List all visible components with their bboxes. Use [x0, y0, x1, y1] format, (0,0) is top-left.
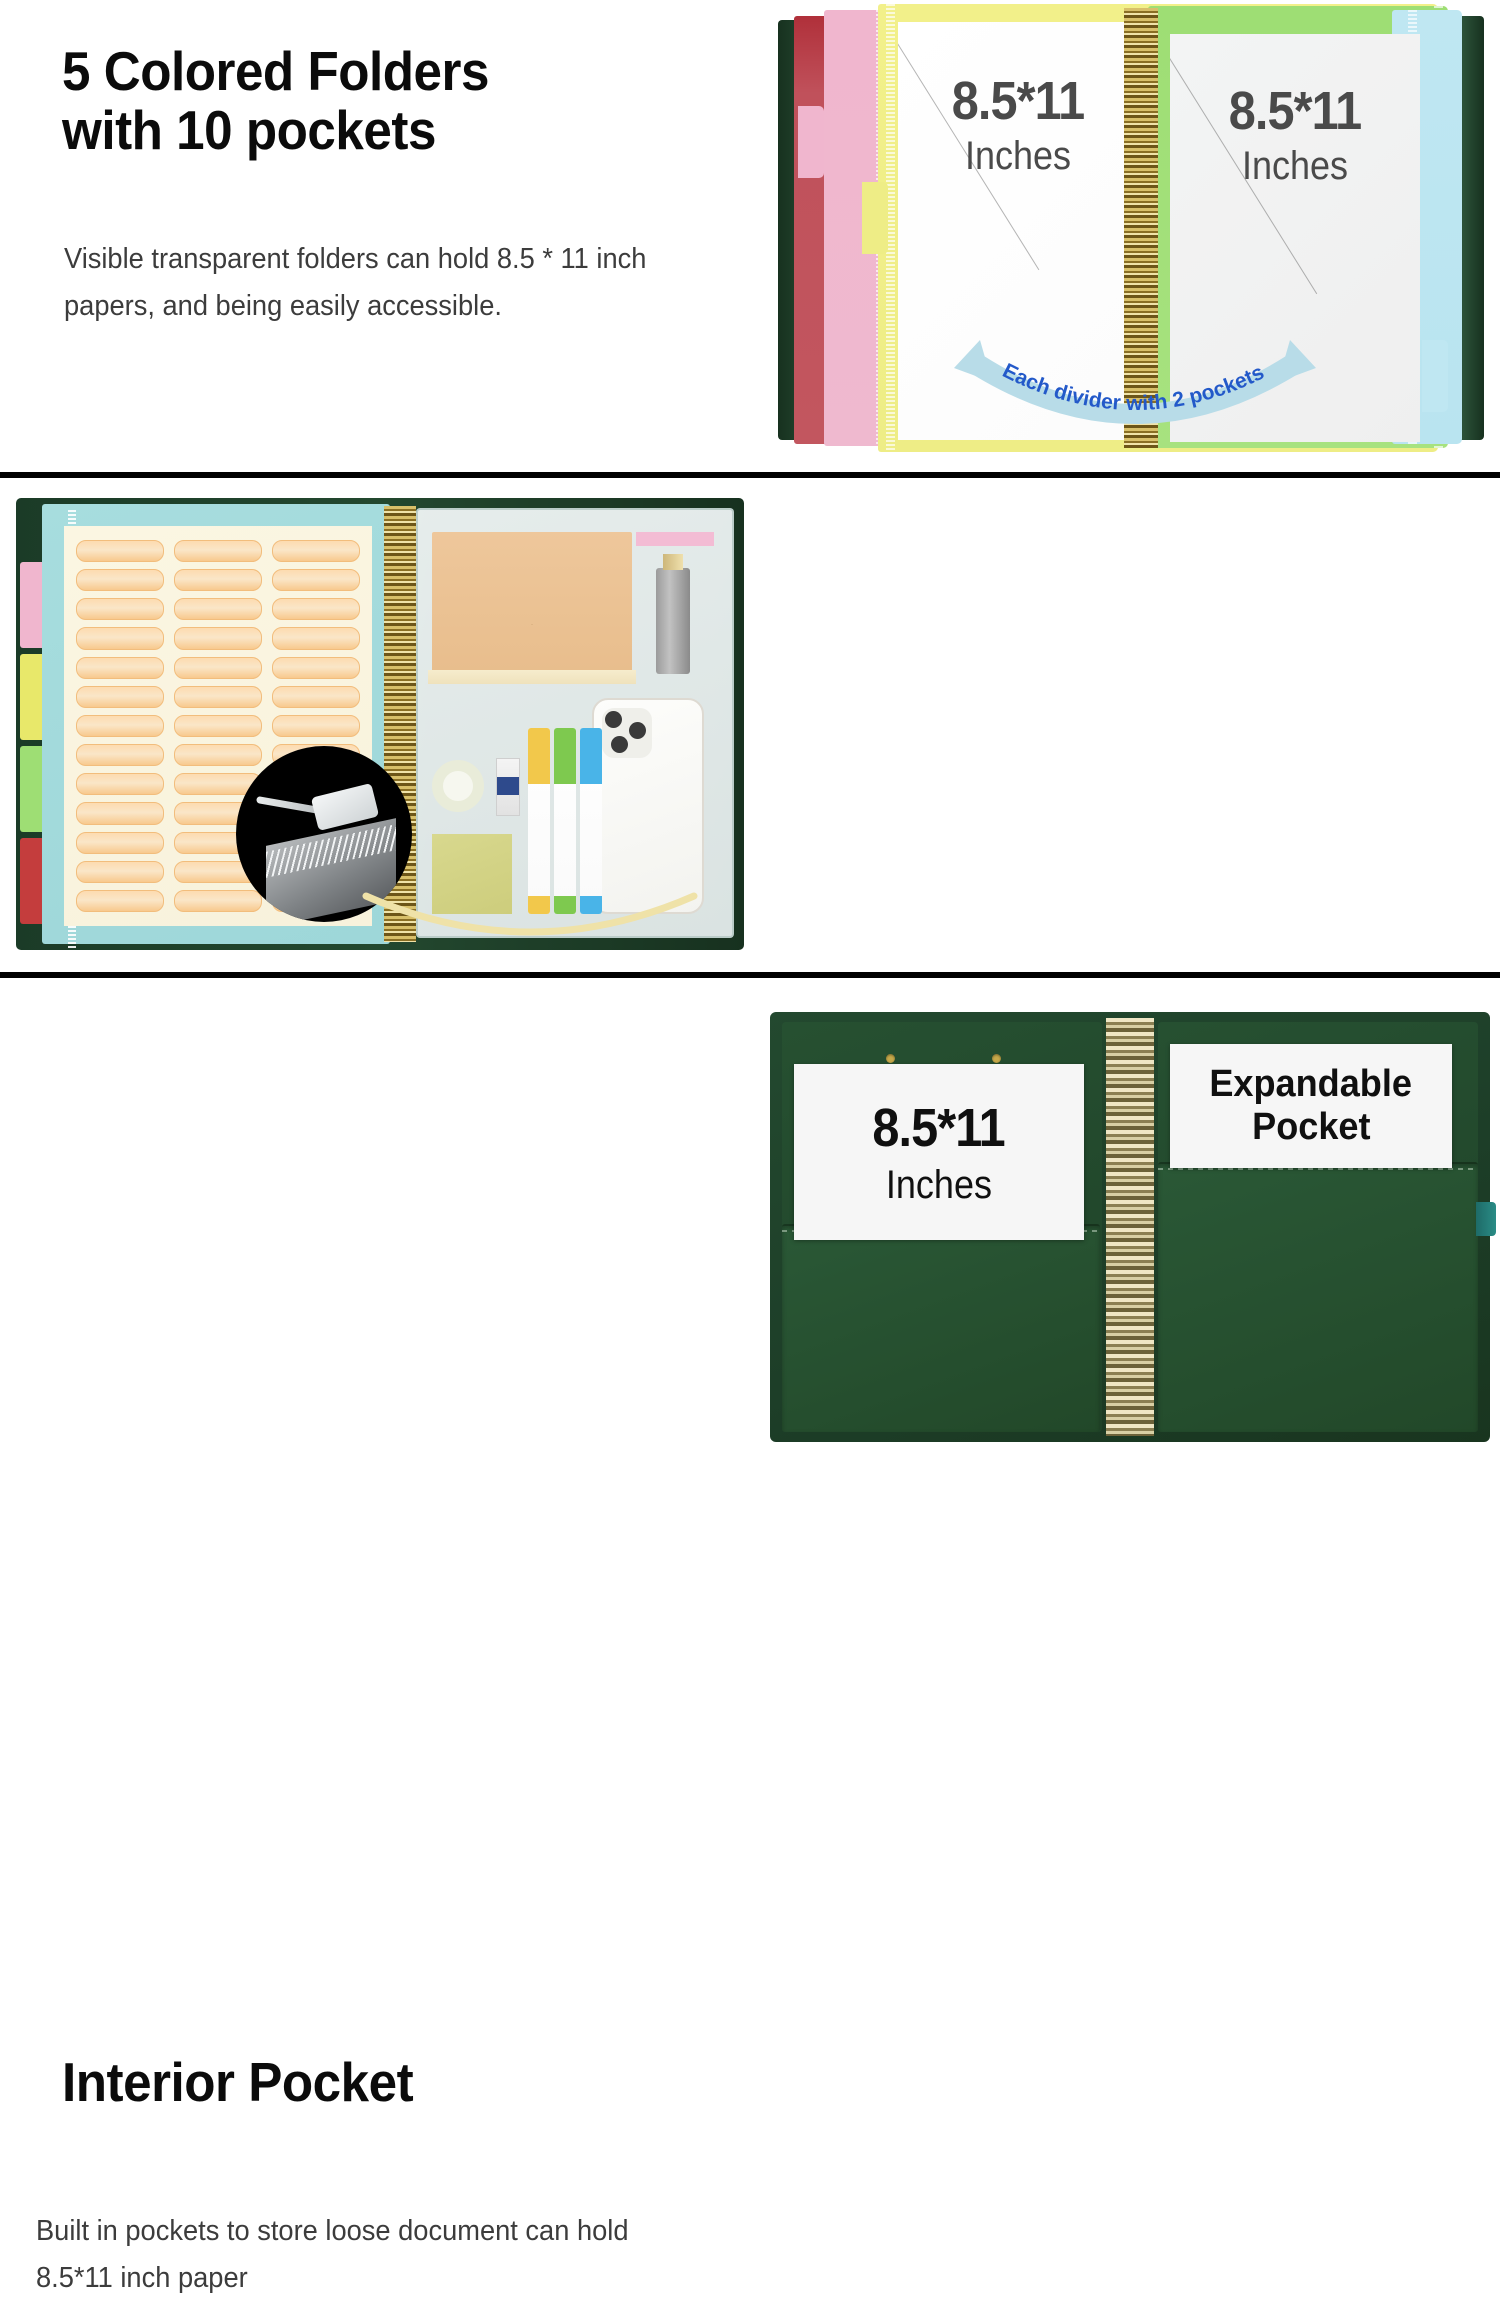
- divider-tab-pink: [798, 106, 824, 178]
- paper-size-label-left: 8.5*11 Inches: [921, 74, 1115, 176]
- sticker-label: [272, 715, 360, 737]
- sticker-label: [76, 773, 164, 795]
- divider-tab-blue: [1422, 340, 1448, 412]
- sticker-label: [76, 598, 164, 620]
- sticker-label: [272, 540, 360, 562]
- pink-paper-slip-item: [636, 532, 714, 546]
- eraser-item: [496, 758, 520, 816]
- binder-hole: [886, 1054, 895, 1063]
- panel-3-body-text: Built in pockets to store loose document…: [36, 2208, 713, 2302]
- pen-loop-tab: [1476, 1202, 1496, 1236]
- paper-size-label-right: 8.5*11 Inches: [1192, 84, 1399, 186]
- interior-pocket-left[interactable]: [782, 1224, 1100, 1432]
- sticker-label: [76, 832, 164, 854]
- sticker-label: [272, 627, 360, 649]
- folio-interior-photo: 8.5*11 Inches Expandable Pocket: [770, 1012, 1490, 1442]
- expandable-card-line-2: Pocket: [1252, 1106, 1370, 1149]
- paper-size-unit-right: Inches: [1192, 146, 1399, 186]
- green-marker-item: [554, 728, 576, 914]
- washi-tape-roll-item: [432, 760, 484, 812]
- camera-lens-icon: [611, 736, 628, 753]
- sticker-label: [272, 686, 360, 708]
- sticker-label: [76, 540, 164, 562]
- spiral-coil-icon: [1106, 1018, 1154, 1436]
- divider-pockets-annotation: Each divider with 2 pockets: [950, 334, 1320, 444]
- pvc-zipper-pouch[interactable]: [416, 508, 734, 938]
- sticker-label: [174, 686, 262, 708]
- sticker-label: [272, 569, 360, 591]
- sticker-label: [76, 715, 164, 737]
- sticker-label: [174, 569, 262, 591]
- size-card: 8.5*11 Inches: [794, 1064, 1084, 1240]
- open-binder-photo: 8.5*11 Inches 8.5*11 Inches Each divider…: [770, 4, 1490, 452]
- sticker-label: [174, 540, 262, 562]
- sticker-label: [76, 802, 164, 824]
- yellow-marker-item: [528, 728, 550, 914]
- paper-size-value-right: 8.5*11: [1192, 84, 1399, 138]
- sticker-label: [174, 627, 262, 649]
- elastic-cord: [366, 896, 694, 932]
- panel-1-heading-line-1: 5 Colored Folders: [62, 40, 489, 102]
- spiral-binding-bottom: [1106, 1018, 1154, 1436]
- elastic-band-closure: [360, 892, 700, 952]
- pocket-stitching: [1158, 1168, 1478, 1170]
- size-card-line-2: Inches: [886, 1163, 992, 1208]
- divider-tab-yellow: [862, 182, 888, 254]
- marker-cap: [554, 728, 576, 784]
- sticker-label: [76, 744, 164, 766]
- panel-1-body-text: Visible transparent folders can hold 8.5…: [64, 236, 694, 330]
- sticker-label: [174, 715, 262, 737]
- panel-3-heading: Interior Pocket: [62, 2053, 694, 2112]
- panel-colored-folders: 5 Colored Folders with 10 pockets Visibl…: [0, 0, 1500, 472]
- sticker-label: [174, 657, 262, 679]
- marker-cap: [528, 728, 550, 784]
- sticker-label: [76, 861, 164, 883]
- size-card-line-1: 8.5*11: [873, 1097, 1005, 1159]
- sticker-label: [76, 569, 164, 591]
- panel-1-heading-line-2: with 10 pockets: [62, 99, 436, 161]
- sticker-label: [76, 890, 164, 912]
- camera-lens-icon: [629, 722, 646, 739]
- expandable-pocket-right[interactable]: [1158, 1162, 1478, 1432]
- sticker-label: [76, 686, 164, 708]
- usb-flash-drive-item: [656, 568, 690, 674]
- sticker-label: [76, 657, 164, 679]
- white-smartphone-item: [592, 698, 704, 914]
- sticker-label: [272, 657, 360, 679]
- expandable-pocket-card: Expandable Pocket: [1170, 1044, 1452, 1168]
- sticker-label: [76, 627, 164, 649]
- camera-bump: [602, 708, 652, 758]
- paper-stack-item: [428, 670, 636, 684]
- panel-1-heading: 5 Colored Folders with 10 pockets: [62, 42, 694, 161]
- blue-marker-item: [580, 728, 602, 914]
- sticker-label: [272, 598, 360, 620]
- camera-lens-icon: [605, 711, 622, 728]
- marker-cap: [580, 728, 602, 784]
- kraft-envelope-item: [432, 532, 632, 680]
- expandable-card-line-1: Expandable: [1210, 1063, 1413, 1106]
- binder-hole: [992, 1054, 1001, 1063]
- sticker-label: [174, 598, 262, 620]
- paper-size-unit-left: Inches: [921, 136, 1115, 176]
- paper-size-value-left: 8.5*11: [921, 74, 1115, 128]
